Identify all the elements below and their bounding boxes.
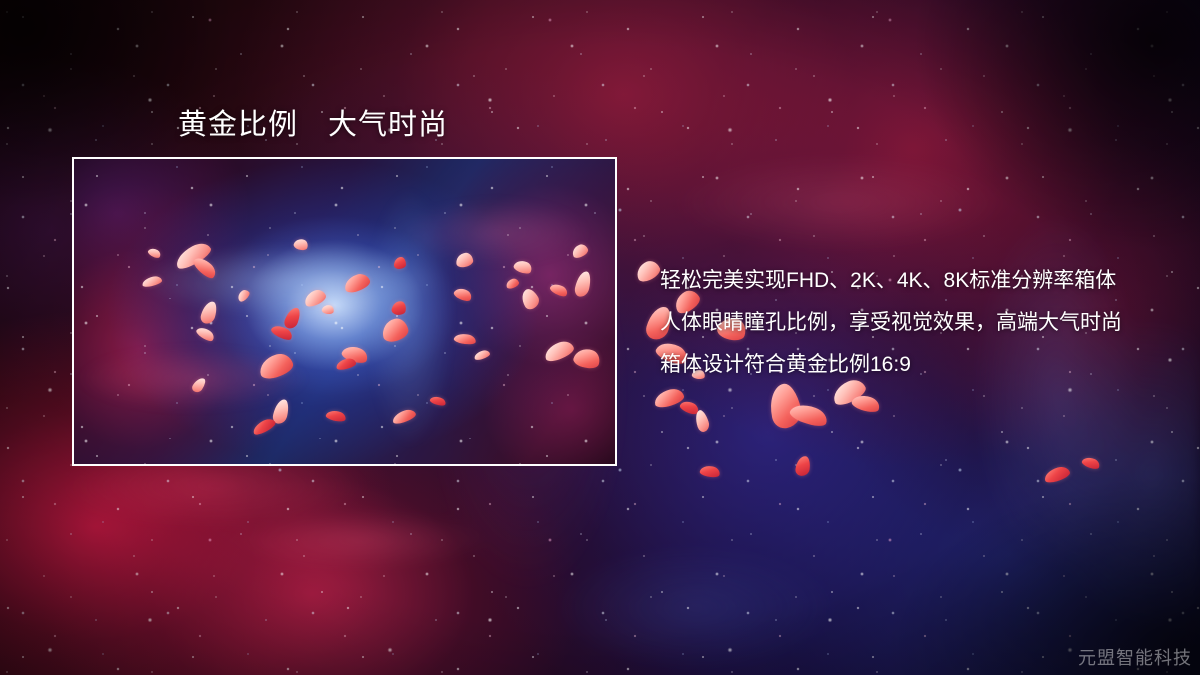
page-title: 黄金比例 大气时尚 <box>178 101 448 143</box>
petal-shape <box>766 381 804 430</box>
petal-shape <box>679 398 701 416</box>
body-line: 人体眼睛瞳孔比例，享受视觉效果，高端大气时尚 <box>660 302 1160 344</box>
body-text-block: 轻松完美实现FHD、2K、4K、8K标准分辨率箱体 人体眼睛瞳孔比例，享受视觉效… <box>660 260 1160 386</box>
panel-nebula-wisps <box>74 159 615 464</box>
petal-shape <box>1081 455 1101 471</box>
presentation-slide: 黄金比例 大气时尚 轻松完美实现FHD、2K、4K、8K标准分辨率箱体 人体眼睛… <box>0 0 1200 675</box>
brand-watermark: 元盟智能科技 <box>1078 644 1192 670</box>
framed-image-panel <box>72 157 617 466</box>
body-line: 箱体设计符合黄金比例16:9 <box>660 344 1160 386</box>
body-line: 轻松完美实现FHD、2K、4K、8K标准分辨率箱体 <box>660 260 1160 302</box>
petal-shape <box>788 400 830 430</box>
petal-shape <box>633 258 662 284</box>
petal-shape <box>1043 465 1072 485</box>
petal-shape <box>699 464 721 479</box>
petal-shape <box>850 392 881 415</box>
petal-shape <box>653 387 686 410</box>
petal-shape <box>795 455 812 477</box>
petal-shape <box>693 409 711 434</box>
